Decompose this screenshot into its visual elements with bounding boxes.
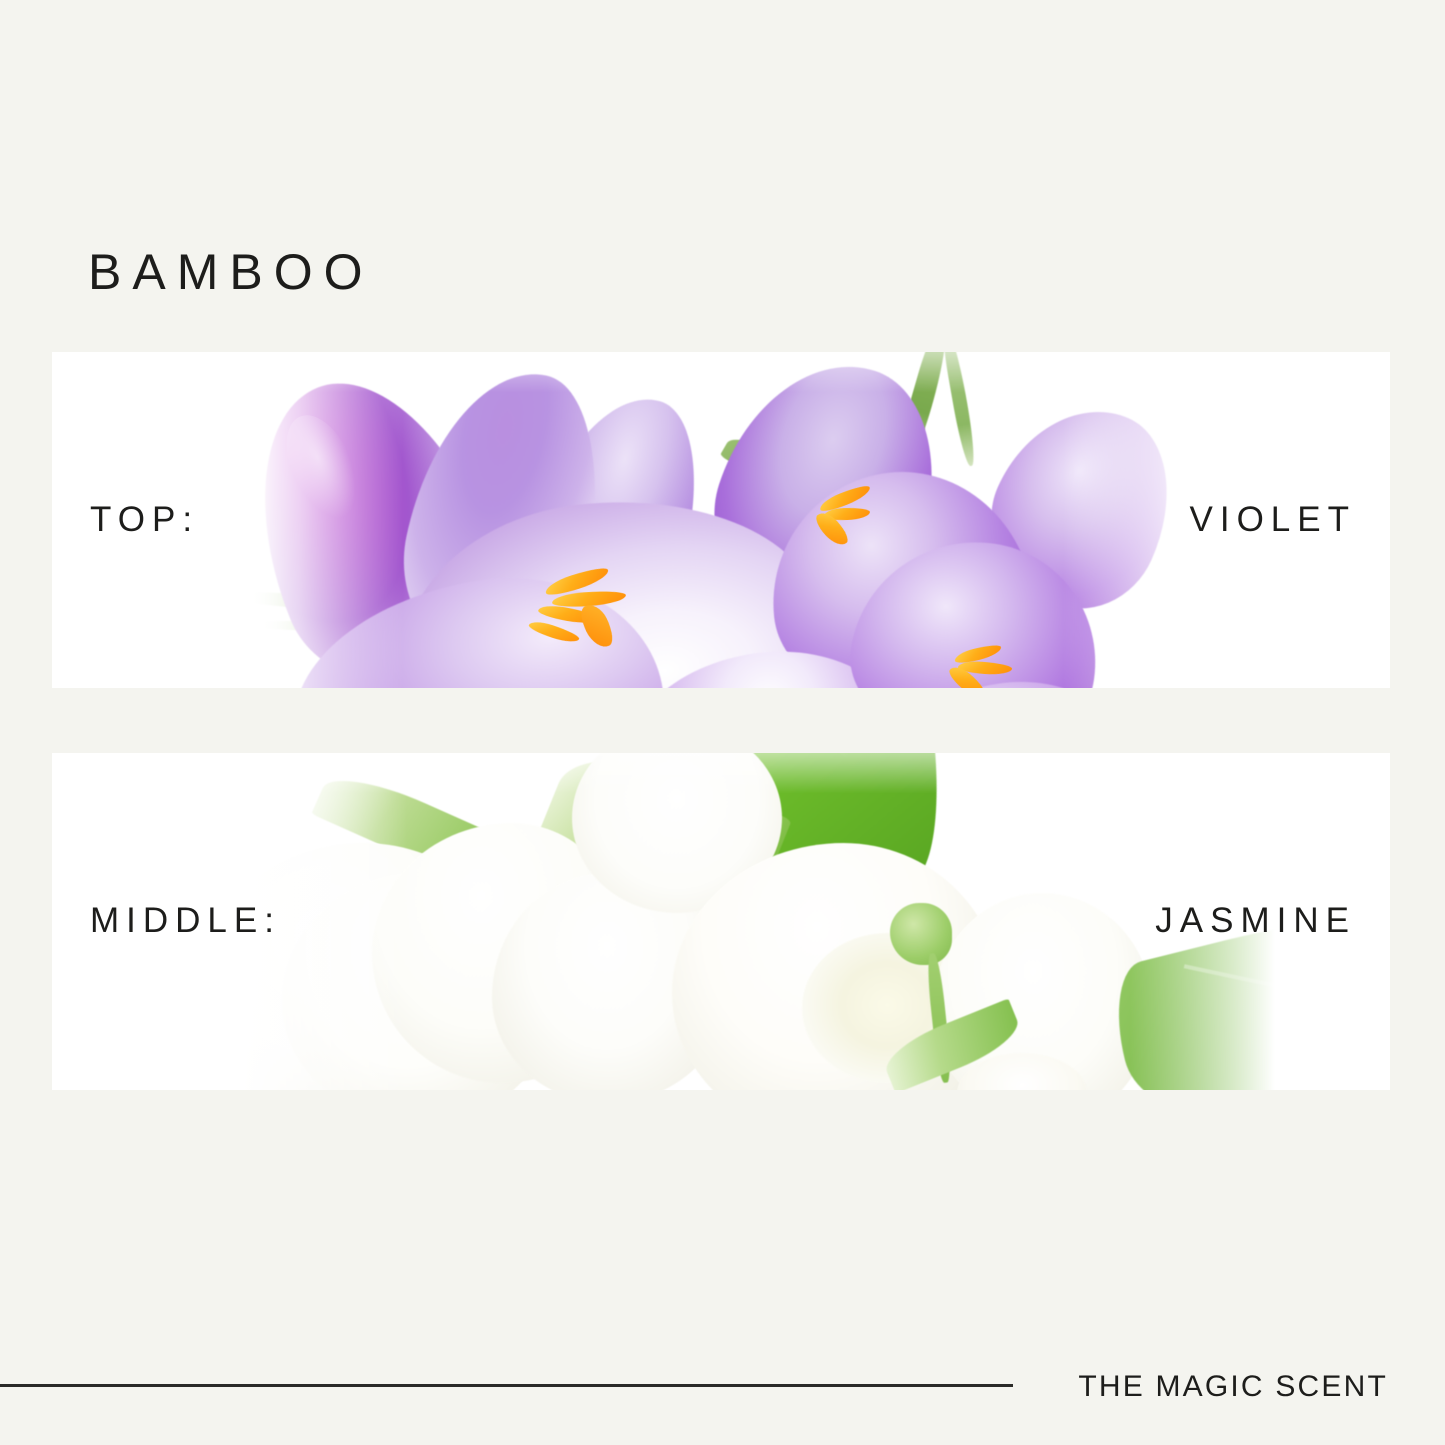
brand-name: THE MAGIC SCENT <box>1078 1372 1388 1402</box>
stem-icon <box>940 352 978 467</box>
note-row-middle: MIDDLE: JASMINE <box>52 753 1390 1090</box>
violet-flower-photo <box>252 352 1195 688</box>
note-label-top: TOP: <box>90 502 199 537</box>
note-label-middle: MIDDLE: <box>90 903 281 938</box>
fragrance-notes-infographic: BAMBOO <box>0 0 1445 1445</box>
page-title: BAMBOO <box>88 247 373 297</box>
note-value-middle: JASMINE <box>1155 903 1356 938</box>
jasmine-flower-photo <box>242 753 1275 1090</box>
footer-divider <box>0 1384 1013 1387</box>
bud-icon <box>890 903 952 965</box>
note-value-top: VIOLET <box>1190 502 1356 537</box>
note-row-top: TOP: VIOLET <box>52 352 1390 688</box>
